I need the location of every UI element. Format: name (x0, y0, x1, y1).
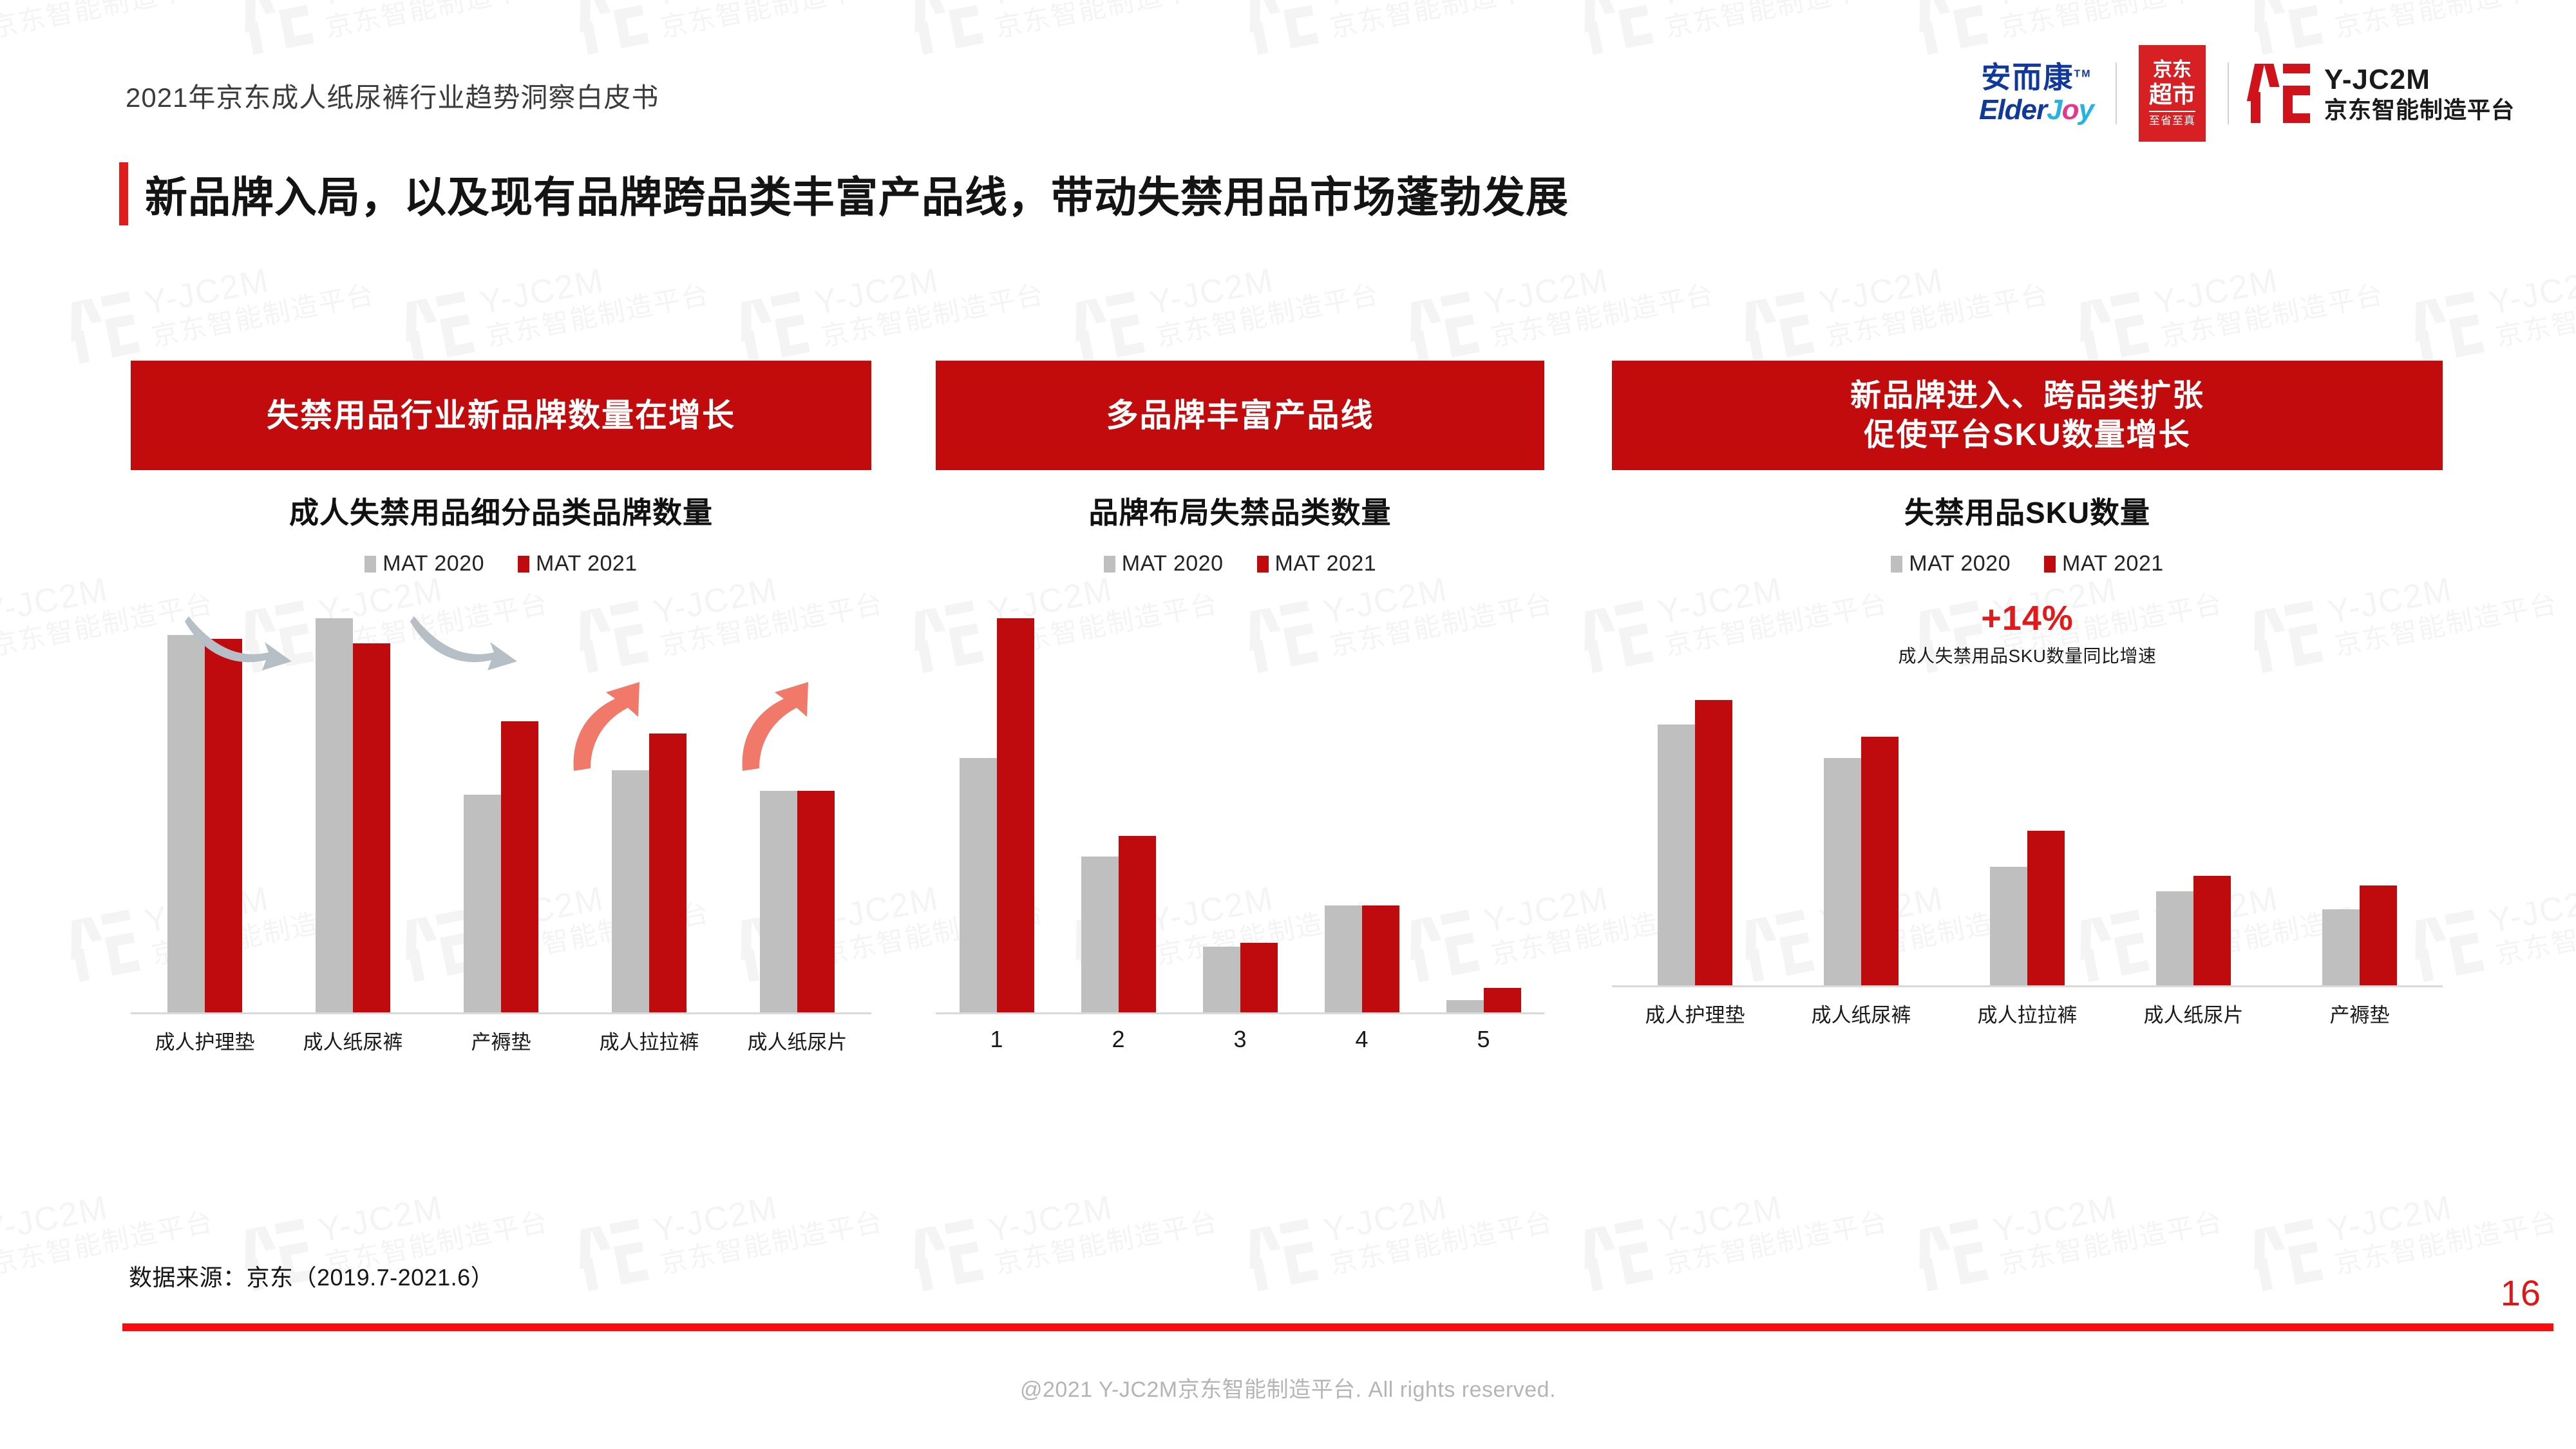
bar-group (936, 602, 1057, 1012)
legend-swatch-icon (2044, 556, 2056, 573)
x-axis-tick-label: 成人拉拉裤 (575, 1026, 723, 1055)
panel-2-legend: MAT 2020 MAT 2021 (936, 551, 1544, 576)
watermark-tile: Y-JC2M京东智能制造平台 (402, 242, 712, 366)
bar-group (2277, 682, 2443, 985)
bar-group (1423, 602, 1544, 1012)
logo-divider (2116, 62, 2117, 124)
legend-item-mat2021: MAT 2021 (518, 551, 638, 576)
trademark-icon: TM (2074, 69, 2091, 80)
yjc2m-logo-cn: 京东智能制造平台 (2324, 97, 2515, 123)
footer-rule (122, 1323, 2553, 1331)
legend-swatch-icon (1104, 556, 1115, 573)
x-axis-tick-label: 4 (1301, 1026, 1423, 1053)
watermark-tile: Y-JC2M京东智能制造平台 (1741, 242, 2051, 366)
bar-mat2020 (1446, 1000, 1484, 1012)
bar-group (2110, 682, 2277, 985)
jd-supermarket-logo: 京东 超市 至省至真 (2139, 45, 2206, 142)
bar-mat2020 (612, 770, 649, 1012)
bar-mat2021 (501, 721, 538, 1012)
bar-mat2020 (2156, 891, 2193, 985)
x-axis-line (131, 1012, 871, 1014)
legend-label: MAT 2020 (1909, 551, 2011, 576)
bar-mat2020 (316, 618, 353, 1012)
panel-1-x-axis-labels: 成人护理垫成人纸尿裤产褥垫成人拉拉裤成人纸尿片 (131, 1026, 871, 1055)
jd-supermarket-line2: 超市 (2149, 82, 2195, 107)
document-subtitle: 2021年京东成人纸尿裤行业趋势洞察白皮书 (126, 76, 659, 115)
bar-group (1057, 602, 1179, 1012)
bar-group (427, 602, 575, 1012)
page-number: 16 (2501, 1272, 2541, 1314)
panel-3-x-axis-labels: 成人护理垫成人纸尿裤成人拉拉裤成人纸尿片产褥垫 (1612, 999, 2443, 1028)
bar-mat2020 (1081, 857, 1119, 1012)
panel-category-coverage: 多品牌丰富产品线 品牌布局失禁品类数量 MAT 2020 MAT 2021 12… (936, 361, 1544, 1053)
panels-container: 失禁用品行业新品牌数量在增长 成人失禁用品细分品类品牌数量 MAT 2020 M… (0, 361, 2576, 1217)
bar-mat2020 (1824, 758, 1861, 985)
yjc2m-logo-text: Y-JC2M 京东智能制造平台 (2324, 64, 2515, 123)
x-axis-tick-label: 成人纸尿片 (723, 1026, 871, 1055)
x-axis-tick-label: 成人纸尿裤 (1778, 999, 1944, 1028)
bar-mat2020 (960, 758, 997, 1012)
watermark-tile: Y-JC2M京东智能制造平台 (2411, 242, 2576, 366)
yjc2m-mark-icon (2251, 64, 2310, 123)
bar-mat2020 (1203, 947, 1240, 1012)
bar-mat2021 (353, 643, 390, 1012)
legend-label: MAT 2021 (536, 551, 638, 576)
elderjoy-logo-en: ElderJoy (1979, 96, 2094, 124)
legend-item-mat2021: MAT 2021 (2044, 551, 2164, 576)
panel-3-plot (1612, 682, 2443, 987)
bar-group (723, 602, 871, 1012)
x-axis-tick-label: 成人护理垫 (131, 1026, 279, 1055)
elderjoy-logo-cn: 安而康TM (1981, 62, 2091, 92)
bar-mat2021 (2027, 831, 2065, 985)
panel-2-banner: 多品牌丰富产品线 (936, 361, 1544, 470)
bar-mat2020 (2322, 909, 2360, 985)
brand-logo-row: 安而康TM ElderJoy 京东 超市 至省至真 Y-JC2M 京东智能制造平… (1979, 45, 2515, 142)
x-axis-tick-label: 5 (1423, 1026, 1544, 1053)
bar-mat2021 (649, 734, 687, 1012)
jd-supermarket-tagline: 至省至真 (2149, 111, 2195, 127)
bar-group (575, 602, 723, 1012)
logo-divider (2228, 62, 2229, 124)
x-axis-tick-label: 2 (1057, 1026, 1179, 1053)
bar-group (1179, 602, 1301, 1012)
legend-swatch-icon (1891, 556, 1902, 573)
bar-mat2021 (797, 791, 835, 1012)
x-axis-tick-label: 产褥垫 (2277, 999, 2443, 1028)
bar-mat2021 (2360, 885, 2397, 985)
bar-mat2020 (1325, 905, 1362, 1012)
legend-label: MAT 2020 (1122, 551, 1224, 576)
panel-brand-count: 失禁用品行业新品牌数量在增长 成人失禁用品细分品类品牌数量 MAT 2020 M… (131, 361, 871, 1055)
x-axis-tick-label: 1 (936, 1026, 1057, 1053)
slide-title-row: 新品牌入局，以及现有品牌跨品类丰富产品线，带动失禁用品市场蓬勃发展 (119, 162, 1569, 225)
yjc2m-logo-en: Y-JC2M (2324, 64, 2515, 97)
x-axis-tick-label: 成人护理垫 (1612, 999, 1778, 1028)
panel-3-legend: MAT 2020 MAT 2021 (1612, 551, 2443, 576)
legend-label: MAT 2020 (383, 551, 484, 576)
panel-sku-count: 新品牌进入、跨品类扩张 促使平台SKU数量增长 失禁用品SKU数量 MAT 20… (1612, 361, 2443, 1028)
panel-3-banner-line1: 新品牌进入、跨品类扩张 (1850, 379, 2204, 413)
panel-2-x-axis-labels: 12345 (936, 1026, 1544, 1053)
x-axis-tick-label: 3 (1179, 1026, 1301, 1053)
document-header: 2021年京东成人纸尿裤行业趋势洞察白皮书 安而康TM ElderJoy 京东 … (0, 0, 2576, 135)
panel-3-banner-line2: 促使平台SKU数量增长 (1864, 418, 2190, 452)
watermark-tile: Y-JC2M京东智能制造平台 (67, 242, 377, 366)
title-accent-bar (119, 162, 128, 225)
panel-1-chart-title: 成人失禁用品细分品类品牌数量 (131, 489, 871, 532)
bar-group (131, 602, 279, 1012)
bar-mat2020 (464, 795, 501, 1012)
bar-mat2020 (167, 635, 205, 1012)
x-axis-tick-label: 成人纸尿裤 (279, 1026, 427, 1055)
bar-groups (1612, 682, 2443, 985)
legend-swatch-icon (1257, 556, 1269, 573)
legend-item-mat2021: MAT 2021 (1257, 551, 1377, 576)
bar-mat2021 (997, 618, 1034, 1012)
panel-1-legend: MAT 2020 MAT 2021 (131, 551, 871, 576)
bar-group (1944, 682, 2110, 985)
bar-mat2021 (2193, 876, 2231, 985)
legend-item-mat2020: MAT 2020 (1891, 551, 2011, 576)
bar-groups (131, 602, 871, 1012)
bar-mat2021 (1362, 905, 1399, 1012)
bar-group (1778, 682, 1944, 985)
bar-mat2021 (1119, 836, 1156, 1012)
panel-2-chart-title: 品牌布局失禁品类数量 (936, 489, 1544, 532)
page-title: 新品牌入局，以及现有品牌跨品类丰富产品线，带动失禁用品市场蓬勃发展 (145, 163, 1569, 225)
bar-mat2020 (1658, 724, 1695, 985)
watermark-tile: Y-JC2M京东智能制造平台 (1406, 242, 1716, 366)
x-axis-line (936, 1012, 1544, 1014)
data-source-note: 数据来源：京东（2019.7-2021.6） (129, 1259, 494, 1293)
x-axis-tick-label: 成人纸尿片 (2110, 999, 2277, 1028)
bar-group (279, 602, 427, 1012)
panel-3-banner: 新品牌进入、跨品类扩张 促使平台SKU数量增长 (1612, 361, 2443, 470)
watermark-tile: Y-JC2M京东智能制造平台 (1072, 242, 1381, 366)
elderjoy-logo: 安而康TM ElderJoy (1979, 62, 2094, 124)
legend-label: MAT 2021 (2062, 551, 2164, 576)
panel-3-chart-title: 失禁用品SKU数量 (1612, 489, 2443, 532)
panel-1-plot (131, 602, 871, 1014)
legend-item-mat2020: MAT 2020 (1104, 551, 1224, 576)
watermark-tile: Y-JC2M京东智能制造平台 (737, 242, 1046, 366)
bar-group (1612, 682, 1778, 985)
x-axis-tick-label: 产褥垫 (427, 1026, 575, 1055)
sku-growth-block: +14% 成人失禁用品SKU数量同比增速 (1612, 598, 2443, 668)
bar-mat2021 (1240, 943, 1278, 1012)
growth-caption: 成人失禁用品SKU数量同比增速 (1612, 642, 2443, 668)
legend-item-mat2020: MAT 2020 (365, 551, 484, 576)
legend-swatch-icon (518, 556, 529, 573)
x-axis-tick-label: 成人拉拉裤 (1944, 999, 2110, 1028)
bar-mat2021 (1695, 700, 1732, 985)
growth-value: +14% (1612, 598, 2443, 638)
panel-2-plot (936, 602, 1544, 1014)
legend-swatch-icon (365, 556, 376, 573)
bar-mat2021 (1861, 737, 1899, 985)
bar-mat2021 (1484, 988, 1521, 1012)
bar-mat2021 (205, 639, 242, 1012)
bar-mat2020 (760, 791, 797, 1012)
bar-groups (936, 602, 1544, 1012)
watermark-tile: Y-JC2M京东智能制造平台 (2076, 242, 2386, 366)
copyright-text: @2021 Y-JC2M京东智能制造平台. All rights reserve… (0, 1372, 2576, 1403)
jd-supermarket-line1: 京东 (2153, 60, 2192, 80)
bar-group (1301, 602, 1423, 1012)
yjc2m-logo: Y-JC2M 京东智能制造平台 (2251, 64, 2515, 123)
bar-mat2020 (1990, 867, 2027, 985)
panel-1-banner: 失禁用品行业新品牌数量在增长 (131, 361, 871, 470)
legend-label: MAT 2021 (1275, 551, 1377, 576)
x-axis-line (1612, 985, 2443, 987)
